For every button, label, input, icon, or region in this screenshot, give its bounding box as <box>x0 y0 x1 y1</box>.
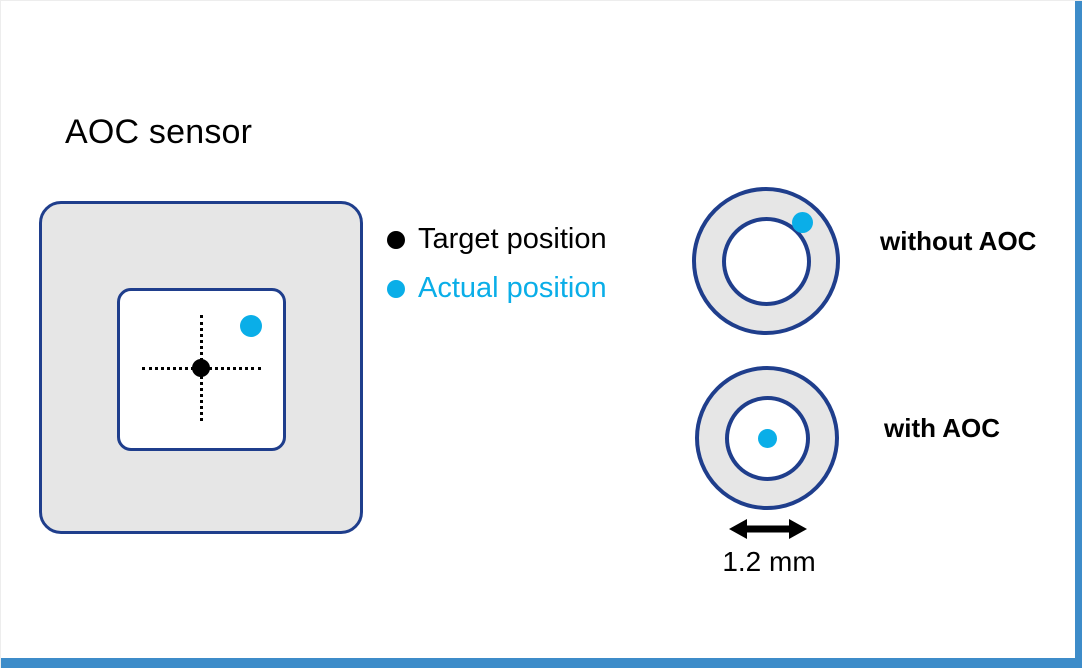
slide-canvas: AOC sensor Target position Actual positi… <box>0 0 1082 668</box>
dimension-label: 1.2 mm <box>717 546 821 578</box>
legend-item-label: Actual position <box>418 274 607 303</box>
target-position-dot <box>192 359 210 377</box>
caption-without-aoc: without AOC <box>880 226 1036 257</box>
page-title: AOC sensor <box>65 113 252 152</box>
actual-bullet-icon <box>387 280 405 298</box>
target-bullet-icon <box>387 231 405 249</box>
legend-item-target-position: Target position <box>387 215 607 264</box>
actual-position-dot-without-aoc <box>792 212 813 233</box>
legend-item-actual-position: Actual position <box>387 264 607 313</box>
actual-position-dot-with-aoc <box>758 429 777 448</box>
actual-position-dot <box>240 315 262 337</box>
legend: Target position Actual position <box>387 215 607 313</box>
accent-bar-right <box>1075 1 1082 668</box>
accent-bar-bottom <box>1 658 1082 668</box>
caption-with-aoc: with AOC <box>884 413 1000 444</box>
double-arrow-icon <box>729 517 807 541</box>
legend-item-label: Target position <box>418 225 607 254</box>
